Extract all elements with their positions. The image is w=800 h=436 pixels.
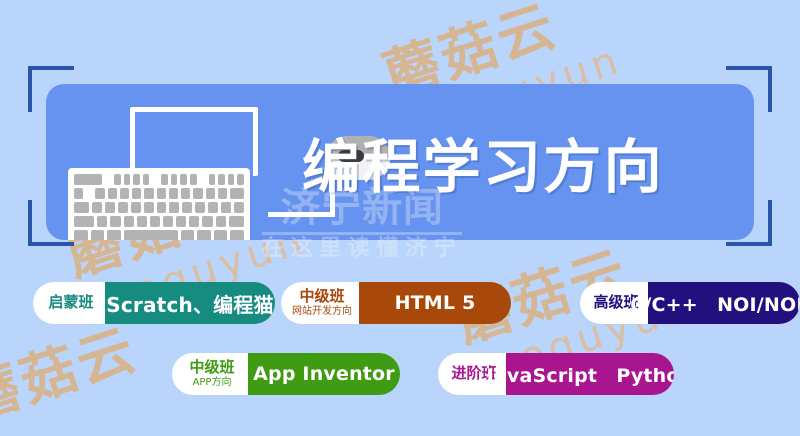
course-tag-level-label: 启蒙班 [48, 295, 93, 311]
keyboard-icon [68, 168, 250, 240]
course-tag-level-label: 中级班 [189, 360, 234, 376]
course-tag-js-python[interactable]: 进阶班JavaScript Python [438, 353, 674, 395]
monitor-icon [130, 107, 258, 176]
poster-stage: 蘑菇云 蘑菇云 moguyun 蘑菇云 moguyun 蘑菇云 moguyun [0, 0, 800, 436]
course-tag-courses: JavaScript Python [506, 353, 674, 395]
course-tag-courses: Scratch、编程猫 [105, 282, 275, 324]
page-title: 编程学习方向 [268, 114, 698, 210]
course-tag-courses: App Inventor [248, 353, 400, 395]
course-tag-cpp[interactable]: 高级班C/C++ NOI/NOIP [580, 282, 800, 324]
course-tag-appinventor[interactable]: 中级班APP方向App Inventor [172, 353, 400, 395]
course-tag-courses: C/C++ NOI/NOIP [648, 282, 800, 324]
course-tag-level-label: 中级班 [299, 289, 344, 305]
course-tag-level: 启蒙班 [33, 282, 105, 324]
course-tag-html5[interactable]: 中级班网站开发方向HTML 5 [281, 282, 511, 324]
site-watermark-slogan: 在这里读懂济宁 [262, 238, 462, 260]
course-tag-direction-label: APP方向 [193, 377, 232, 388]
course-tag-scratch[interactable]: 启蒙班Scratch、编程猫 [33, 282, 275, 324]
banner-panel: 编程学习方向 [46, 84, 754, 240]
course-tag-courses: HTML 5 [359, 282, 511, 324]
course-tag-level: 中级班APP方向 [172, 353, 248, 395]
course-tag-direction-label: 网站开发方向 [292, 306, 352, 317]
watermark-text: 蘑菇云 [0, 304, 146, 436]
course-tag-level: 中级班网站开发方向 [281, 282, 359, 324]
